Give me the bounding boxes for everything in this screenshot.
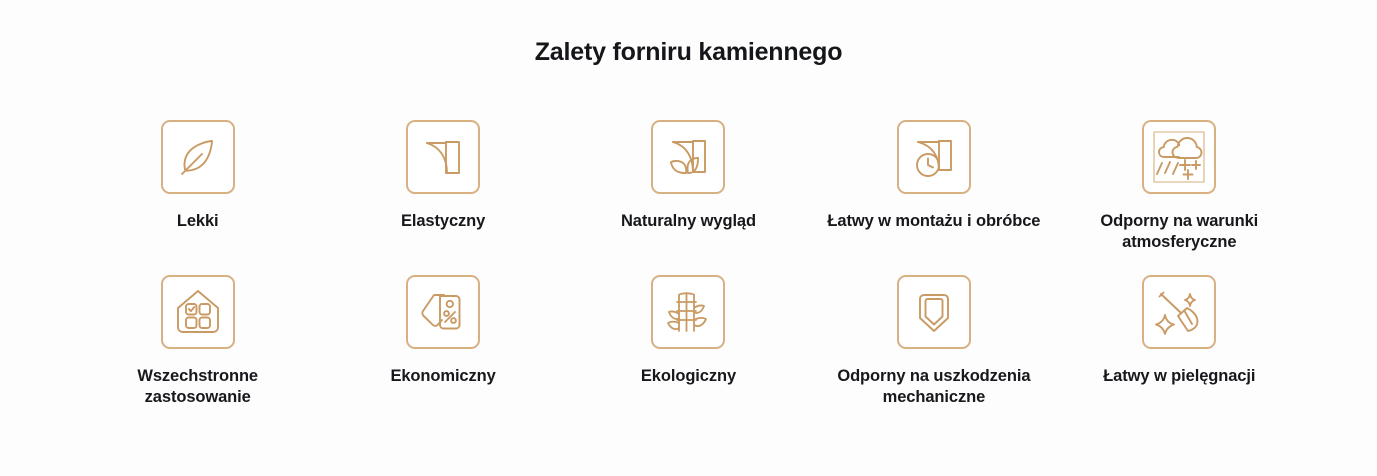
feature-item: Lekki [75,120,320,275]
features-grid: Lekki Elastyczny [75,120,1302,430]
feature-label: Odporny na uszkodzenia mechaniczne [826,366,1041,409]
feature-label: Elastyczny [401,211,485,232]
feature-label: Odporny na warunki atmosferyczne [1072,211,1287,254]
feature-item: Odporny na uszkodzenia mechaniczne [811,275,1056,430]
feature-item: Ekologiczny [566,275,811,430]
feature-item: Elastyczny [320,120,565,275]
feature-item: Naturalny wygląd [566,120,811,275]
house-grid-check-icon [161,275,235,349]
feature-label: Łatwy w pielęgnacji [1103,366,1255,387]
bending-sheet-icon [406,120,480,194]
feature-item: Wszechstronne zastosowanie [75,275,320,430]
sheet-with-leaves-icon [651,120,725,194]
feature-label: Łatwy w montażu i obróbce [827,211,1040,232]
advantages-infographic: Zalety forniru kamiennego Lekki [0,0,1377,476]
feather-icon [161,120,235,194]
feature-label: Naturalny wygląd [621,211,756,232]
feature-item: Ekonomiczny [320,275,565,430]
feature-label: Lekki [177,211,219,232]
feature-item: Łatwy w pielęgnacji [1057,275,1302,430]
sheet-with-clock-icon [897,120,971,194]
feature-label: Ekonomiczny [390,366,495,387]
feature-item: Łatwy w montażu i obróbce [811,120,1056,275]
feature-label: Ekologiczny [641,366,736,387]
bamboo-leaves-icon [651,275,725,349]
page-title: Zalety forniru kamiennego [0,38,1377,67]
clouds-rain-snow-icon [1142,120,1216,194]
shield-icon [897,275,971,349]
price-tags-percent-icon [406,275,480,349]
feature-item: Odporny na warunki atmosferyczne [1057,120,1302,275]
broom-sparkles-icon [1142,275,1216,349]
feature-label: Wszechstronne zastosowanie [90,366,305,409]
